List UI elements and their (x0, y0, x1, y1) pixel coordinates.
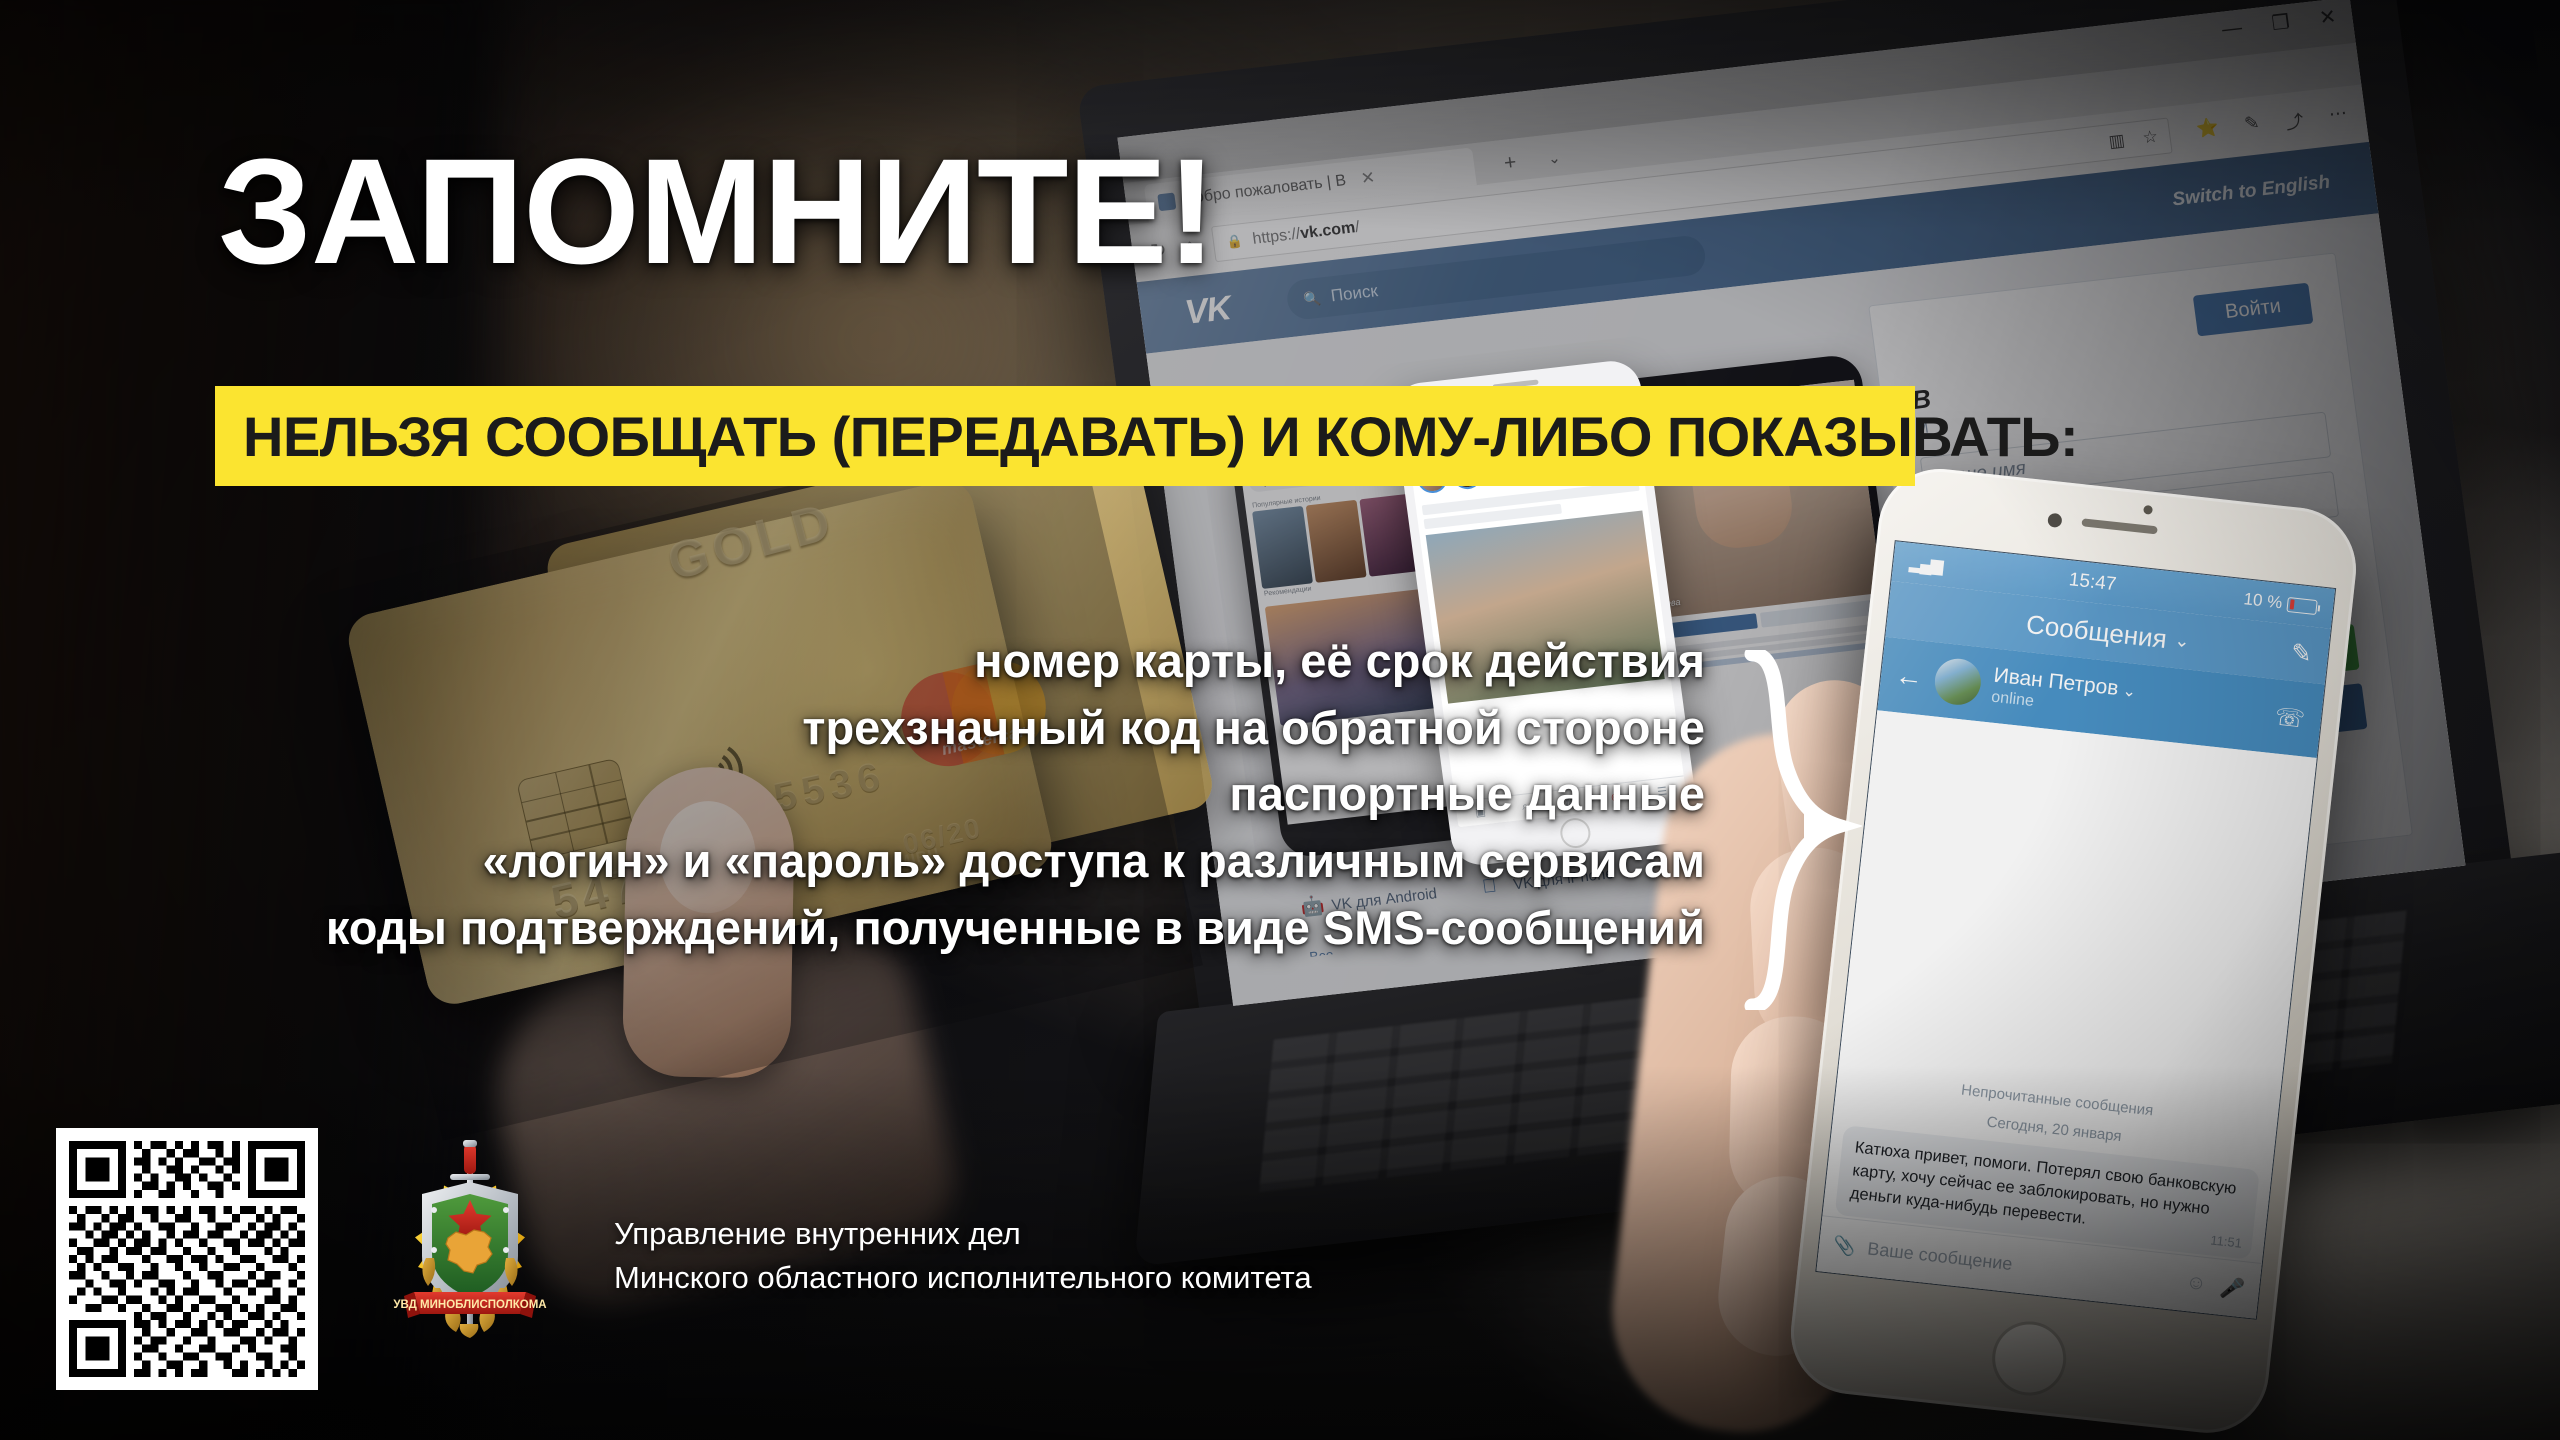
list-item: «логин» и «пароль» доступа к различным с… (5, 828, 1705, 895)
qr-code[interactable] (56, 1128, 318, 1390)
emblem-ribbon-text: УВД МИНОБЛИСПОЛКОМА (393, 1299, 546, 1311)
page-title: ЗАПОМНИТЕ! (218, 140, 1216, 283)
organization-line-2: Минского областного исполнительного коми… (614, 1256, 1312, 1300)
qr-code-graphic (69, 1141, 305, 1377)
organization-name: Управление внутренних дел Минского облас… (614, 1212, 1312, 1300)
awareness-poster: — ❐ ✕ Добро пожаловать | В ✕ + ⌄ ↻ ⌂ (0, 0, 2560, 1440)
curly-brace-arrow (1742, 650, 1862, 1010)
list-item: коды подтверждений, полученные в виде SM… (5, 895, 1705, 962)
warning-banner-text: НЕЛЬЗЯ СООБЩАТЬ (ПЕРЕДАВАТЬ) И КОМУ-ЛИБО… (243, 404, 2078, 469)
list-item: трехзначный код на обратной стороне (5, 695, 1705, 762)
organization-line-1: Управление внутренних дел (614, 1212, 1312, 1256)
list-item: паспортные данные (5, 761, 1705, 828)
warning-banner: НЕЛЬЗЯ СООБЩАТЬ (ПЕРЕДАВАТЬ) И КОМУ-ЛИБО… (215, 386, 1915, 486)
police-emblem: УВД МИНОБЛИСПОЛКОМА (390, 1138, 550, 1343)
prohibited-items-list: номер карты, её срок действия трехзначны… (5, 628, 1705, 962)
list-item: номер карты, её срок действия (5, 628, 1705, 695)
